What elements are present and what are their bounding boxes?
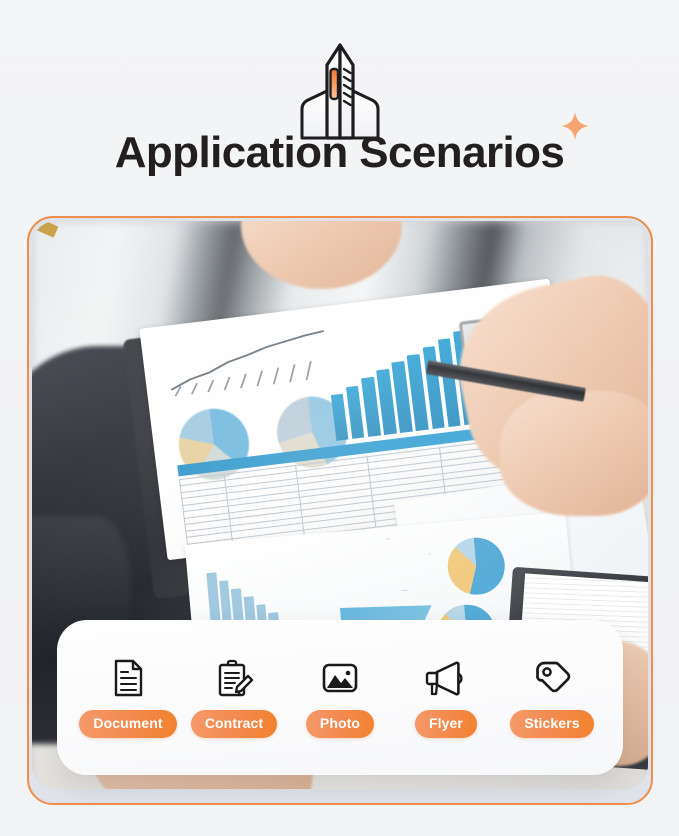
scenario-item-contract[interactable]: Contract <box>181 657 287 738</box>
image-icon <box>319 657 361 699</box>
scenario-item-stickers[interactable]: Stickers <box>499 657 605 738</box>
clipboard-pencil-icon <box>213 657 255 699</box>
scenario-item-flyer[interactable]: Flyer <box>393 657 499 738</box>
page-title-row: Application Scenarios <box>0 129 679 177</box>
scenario-label-flyer: Flyer <box>415 710 477 738</box>
tag-icon <box>531 657 573 699</box>
application-scenarios-page: Application Scenarios <box>0 0 679 836</box>
scenario-item-document[interactable]: Document <box>75 657 181 738</box>
megaphone-icon <box>425 657 467 699</box>
document-icon <box>107 657 149 699</box>
scenario-label-contract: Contract <box>191 710 277 738</box>
page-header: Application Scenarios <box>0 0 679 210</box>
building-icon <box>275 36 405 140</box>
scenario-label-stickers: Stickers <box>510 710 593 738</box>
scenario-item-photo[interactable]: Photo <box>287 657 393 738</box>
scenario-label-photo: Photo <box>306 710 374 738</box>
scenario-label-document: Document <box>79 710 176 738</box>
sparkle-star-icon <box>560 111 590 141</box>
page-title: Application Scenarios <box>115 129 565 177</box>
scenario-chip-card: Document Contract <box>57 620 623 775</box>
